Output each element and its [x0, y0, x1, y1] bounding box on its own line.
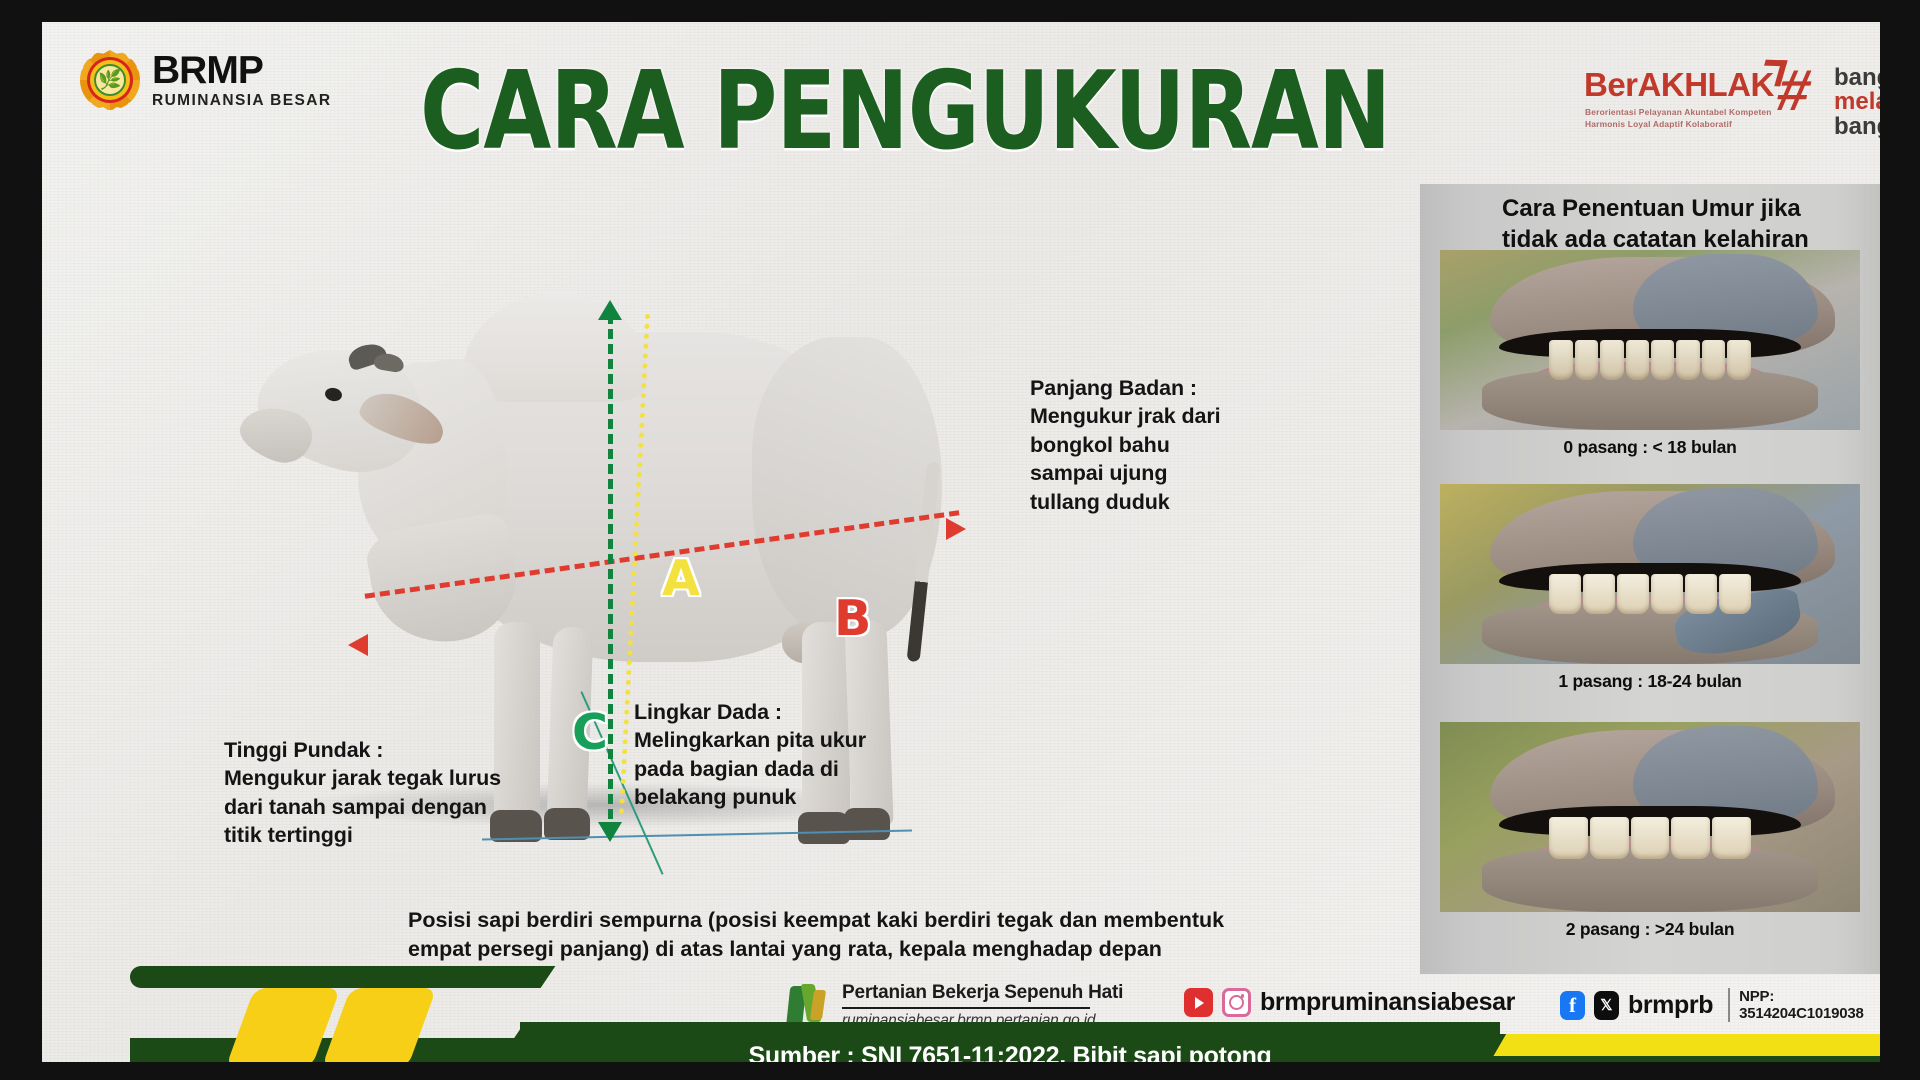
- source-text: Sumber : SNI 7651-11:2022, Bibit sapi po…: [520, 1042, 1500, 1062]
- decor-right-stripes: [1440, 1026, 1880, 1062]
- decor-left-stripes: [42, 960, 520, 1062]
- panjang-badan-line-2: bongkol bahu: [1030, 431, 1330, 459]
- standing-note-line-2: empat persegi panjang) di atas lantai ya…: [408, 935, 1338, 964]
- social-handle-primary: brmpruminansiabesar: [1260, 988, 1515, 1017]
- brand-subtitle: RUMINANSIA BESAR: [152, 93, 331, 109]
- slogan-line-3: bangsa: [1834, 115, 1880, 139]
- tinggi-pundak-line-2: dari tanah sampai dengan: [224, 793, 554, 821]
- social-primary[interactable]: brmpruminansiabesar: [1184, 988, 1515, 1017]
- social-handle-secondary: brmprb: [1628, 991, 1713, 1020]
- lingkar-dada-line-1: Melingkarkan pita ukur: [634, 726, 934, 754]
- teeth-caption-1-pair: 1 pasang : 18-24 bulan: [1440, 664, 1860, 692]
- brand-name: BRMP: [152, 51, 331, 90]
- panjang-badan-heading: Panjang Badan :: [1030, 374, 1330, 402]
- label-b: B: [834, 590, 871, 647]
- teeth-card-2-pairs: 2 pasang : >24 bulan: [1440, 722, 1860, 940]
- tinggi-pundak-heading: Tinggi Pundak :: [224, 736, 554, 764]
- cattle-teeth-photo-2-pairs: [1440, 722, 1860, 912]
- teeth-caption-2-pairs: 2 pasang : >24 bulan: [1440, 912, 1860, 940]
- divider: [842, 1007, 1090, 1009]
- teeth-card-1-pair: 1 pasang : 18-24 bulan: [1440, 484, 1860, 692]
- standing-note-line-1: Posisi sapi berdiri sempurna (posisi kee…: [408, 906, 1338, 935]
- teeth-card-0-pairs: 0 pasang : < 18 bulan: [1440, 250, 1860, 458]
- standing-position-note: Posisi sapi berdiri sempurna (posisi kee…: [408, 906, 1338, 964]
- social-secondary[interactable]: f 𝕏 brmprb NPP: 3514204C1019038: [1560, 988, 1880, 1022]
- shoulder-height-line: [608, 314, 613, 834]
- lingkar-dada-line-3: belakang punuk: [634, 783, 934, 811]
- youtube-icon[interactable]: [1184, 988, 1213, 1017]
- body-length-arrow-left-icon: [348, 634, 368, 656]
- x-twitter-icon[interactable]: 𝕏: [1594, 991, 1619, 1020]
- agriculture-seal-icon: 🌿: [80, 50, 140, 110]
- label-c: C: [572, 704, 608, 761]
- body-length-arrow-right-icon: [946, 518, 966, 540]
- lingkar-dada-heading: Lingkar Dada :: [634, 698, 934, 726]
- berakhlak-wordmark: BerAKHLAK: [1584, 66, 1774, 104]
- panjang-badan-line-1: Mengukur jrak dari: [1030, 402, 1330, 430]
- shoulder-height-arrow-up-icon: [598, 300, 622, 320]
- berakhlak-tagline: Berorientasi Pelayanan Akuntabel Kompete…: [1585, 106, 1800, 130]
- berakhlak-slogan: bangga melayani bangsa: [1834, 66, 1880, 139]
- slogan-line-2: melayani: [1834, 90, 1880, 114]
- callout-tinggi-pundak: Tinggi Pundak : Mengukur jarak tegak lur…: [224, 736, 554, 850]
- page-title: CARA PENGUKURAN: [420, 58, 1390, 166]
- age-panel-title: Cara Penentuan Umur jika tidak ada catat…: [1502, 194, 1880, 255]
- shoulder-height-arrow-down-icon: [598, 822, 622, 842]
- ministry-tagline: Pertanian Bekerja Sepenuh Hati: [842, 982, 1123, 1004]
- callout-lingkar-dada: Lingkar Dada : Melingkarkan pita ukur pa…: [634, 698, 934, 812]
- lingkar-dada-line-2: pada bagian dada di: [634, 755, 934, 783]
- infographic-poster: 🌿 BRMP RUMINANSIA BESAR CARA PENGUKURAN …: [0, 0, 1920, 1080]
- age-panel-title-line-1: Cara Penentuan Umur jika: [1502, 194, 1880, 225]
- brmp-logo: 🌿 BRMP RUMINANSIA BESAR: [80, 50, 331, 110]
- poster-canvas: 🌿 BRMP RUMINANSIA BESAR CARA PENGUKURAN …: [42, 22, 1880, 1062]
- tinggi-pundak-line-3: titik tertinggi: [224, 821, 554, 849]
- cattle-teeth-photo-1-pair: [1440, 484, 1860, 664]
- label-a: A: [662, 550, 700, 607]
- instagram-icon[interactable]: [1222, 988, 1251, 1017]
- callout-panjang-badan: Panjang Badan : Mengukur jrak dari bongk…: [1030, 374, 1330, 516]
- npp-number: NPP: 3514204C1019038: [1728, 988, 1880, 1022]
- panjang-badan-line-4: tullang duduk: [1030, 488, 1330, 516]
- berakhlak-logo: BerAKHLAK Berorientasi Pelayanan Akuntab…: [1584, 60, 1880, 142]
- slogan-line-1: bangga: [1834, 66, 1880, 90]
- panjang-badan-line-3: sampai ujung: [1030, 459, 1330, 487]
- facebook-icon[interactable]: f: [1560, 991, 1585, 1020]
- cattle-teeth-photo-0-pairs: [1440, 250, 1860, 430]
- tinggi-pundak-line-1: Mengukur jarak tegak lurus: [224, 764, 554, 792]
- teeth-caption-0-pairs: 0 pasang : < 18 bulan: [1440, 430, 1860, 458]
